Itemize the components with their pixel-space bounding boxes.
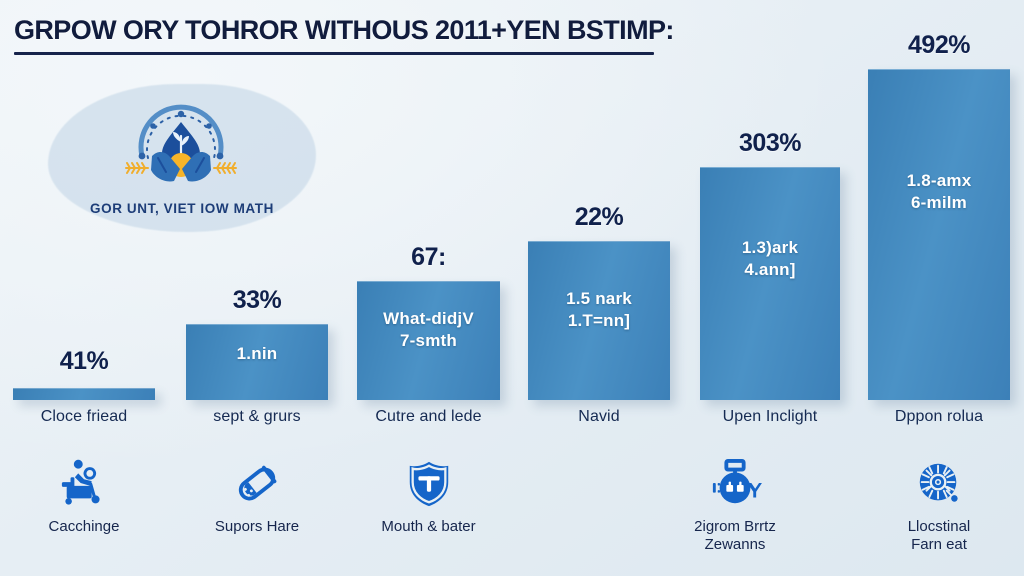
bar-inner-text-6: 1.8-amx 6-milm bbox=[868, 170, 1010, 215]
bar-inner-line: 1.8-amx bbox=[868, 170, 1010, 192]
bar-rect-1[interactable] bbox=[13, 388, 155, 400]
category-label-5: Upen Inclight bbox=[700, 408, 840, 426]
bar-inner-line: 1.nin bbox=[186, 343, 328, 365]
icon-caption-1: Cacchinge bbox=[13, 518, 155, 536]
bar-inner-line: 4.ann] bbox=[700, 259, 840, 281]
bar-chart: 41% 33% 1.nin 67: What-didjV 7-smth 22% bbox=[0, 0, 1024, 400]
icon-cell-1[interactable]: Cacchinge bbox=[13, 456, 155, 536]
bar-rect-5[interactable]: 1.3)ark 4.ann] bbox=[700, 167, 840, 400]
bar-value-label-3: 67: bbox=[357, 243, 500, 272]
category-label-4: Navid bbox=[528, 408, 670, 426]
icon-caption-2: Supors Hare bbox=[186, 518, 328, 536]
bar-value-label-5: 303% bbox=[700, 129, 840, 158]
medal-badge-icon bbox=[645, 456, 825, 512]
bar-inner-text-5: 1.3)ark 4.ann] bbox=[700, 237, 840, 282]
shield-badge-icon bbox=[357, 456, 500, 512]
category-label-2: sept & grurs bbox=[186, 408, 328, 426]
bar-inner-line: 1.3)ark bbox=[700, 237, 840, 259]
bar-group-3[interactable]: 67: What-didjV 7-smth bbox=[357, 0, 500, 400]
bar-inner-text-2: 1.nin bbox=[186, 343, 328, 365]
bar-inner-line: What-didjV bbox=[357, 308, 500, 330]
bar-value-label-4: 22% bbox=[528, 203, 670, 232]
category-label-6: Dppon rolua bbox=[868, 408, 1010, 426]
bar-inner-line: 1.5 nark bbox=[528, 288, 670, 310]
bar-rect-4[interactable]: 1.5 nark 1.T=nn] bbox=[528, 241, 670, 400]
icon-caption-3: Mouth & bater bbox=[357, 518, 500, 536]
bar-group-5[interactable]: 303% 1.3)ark 4.ann] bbox=[700, 0, 840, 400]
bar-rect-3[interactable]: What-didjV 7-smth bbox=[357, 281, 500, 400]
bar-value-label-2: 33% bbox=[186, 286, 328, 315]
icon-caption-5: Llocstinal Farn eat bbox=[868, 518, 1010, 553]
icon-cell-5[interactable]: Llocstinal Farn eat bbox=[868, 456, 1010, 553]
test-tube-icon bbox=[186, 456, 328, 512]
bar-inner-line: 6-milm bbox=[868, 192, 1010, 214]
bar-inner-line: 7-smth bbox=[357, 330, 500, 352]
bar-group-1[interactable]: 41% bbox=[13, 0, 155, 400]
bar-rect-2[interactable]: 1.nin bbox=[186, 324, 328, 400]
infographic-canvas: GRPOW ORY TOHROR WITHOUS 2011+YEN BSTIMP… bbox=[0, 0, 1024, 576]
bar-inner-text-4: 1.5 nark 1.T=nn] bbox=[528, 288, 670, 333]
bar-rect-6[interactable]: 1.8-amx 6-milm bbox=[868, 69, 1010, 400]
category-label-3: Cutre and lede bbox=[357, 408, 500, 426]
bar-inner-text-3: What-didjV 7-smth bbox=[357, 308, 500, 353]
sunburst-flower-icon bbox=[868, 456, 1010, 512]
bar-group-4[interactable]: 22% 1.5 nark 1.T=nn] bbox=[528, 0, 670, 400]
bar-group-6[interactable]: 492% 1.8-amx 6-milm bbox=[868, 0, 1010, 400]
icon-cell-4[interactable]: 2igrom Brrtz Zewanns bbox=[645, 456, 825, 553]
bar-value-label-6: 492% bbox=[868, 31, 1010, 60]
icon-caption-4: 2igrom Brrtz Zewanns bbox=[645, 518, 825, 553]
exercise-machine-icon bbox=[13, 456, 155, 512]
bar-inner-line: 1.T=nn] bbox=[528, 310, 670, 332]
category-label-1: Cloce friead bbox=[13, 408, 155, 426]
icon-cell-2[interactable]: Supors Hare bbox=[186, 456, 328, 536]
bar-group-2[interactable]: 33% 1.nin bbox=[186, 0, 328, 400]
icon-cell-3[interactable]: Mouth & bater bbox=[357, 456, 500, 536]
bar-value-label-1: 41% bbox=[13, 347, 155, 376]
